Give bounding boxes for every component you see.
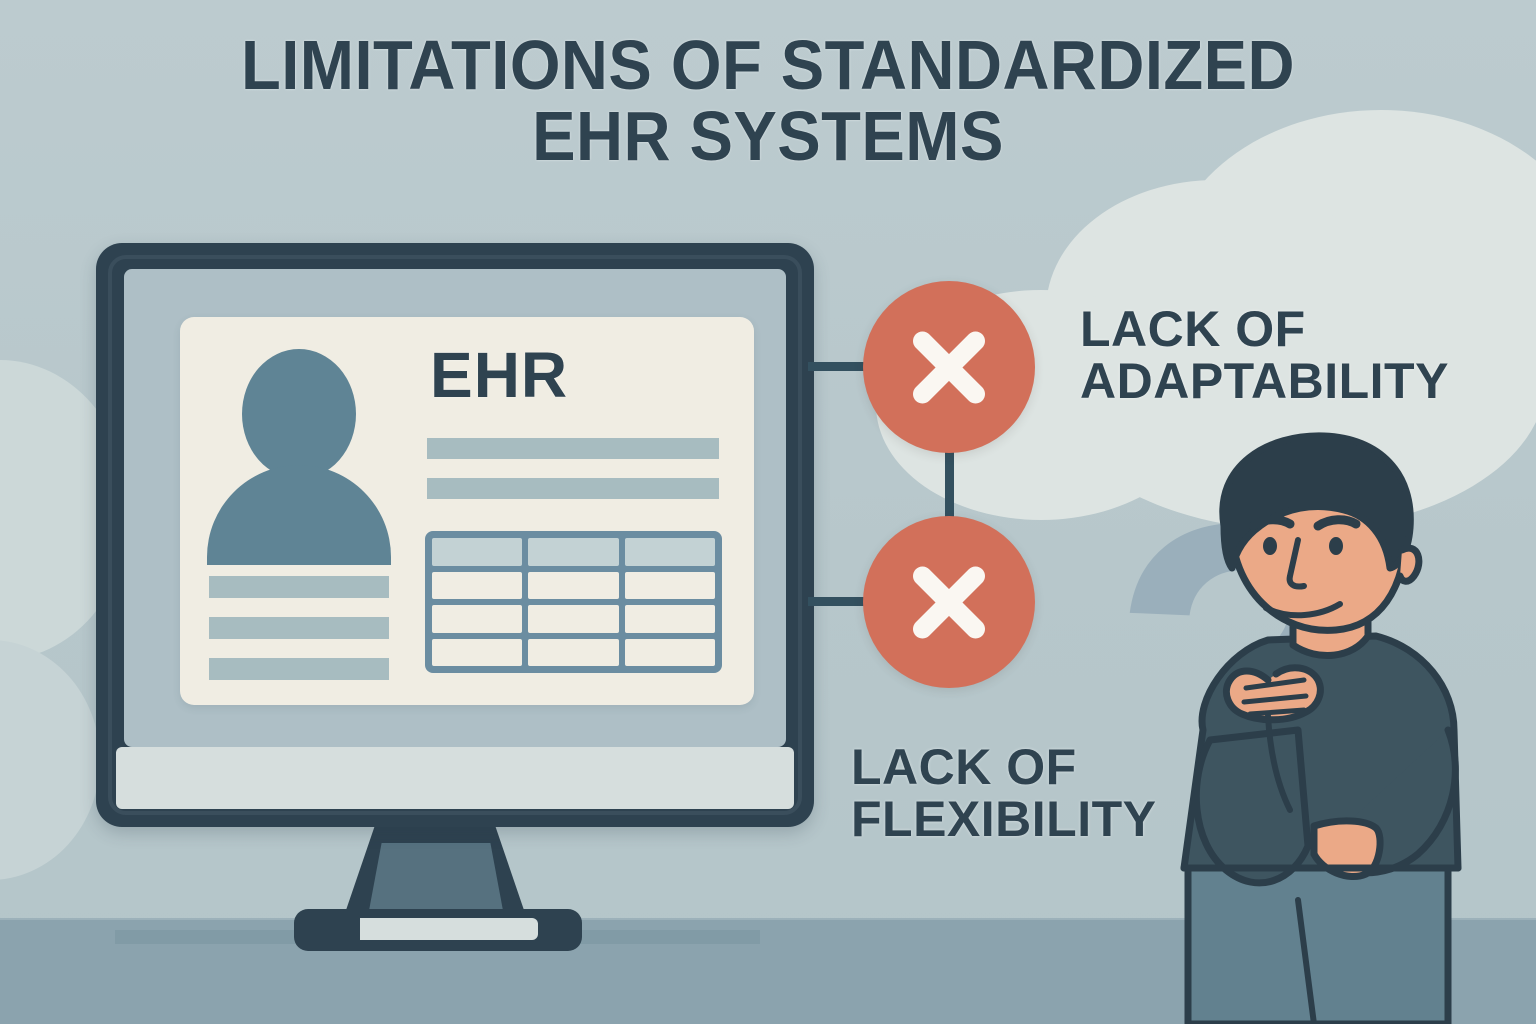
- table-cell: [432, 572, 522, 600]
- placeholder-bar: [209, 576, 389, 598]
- limitation-label-flexibility: LACK OF FLEXIBILITY: [851, 741, 1157, 845]
- monitor-stand-neck-highlight: [368, 843, 504, 916]
- page-title-line-1: LIMITATIONS OF STANDARDIZED: [54, 30, 1482, 101]
- record-table: [425, 531, 722, 673]
- table-cell: [625, 639, 715, 667]
- avatar-icon: [242, 349, 356, 479]
- table-cell: [625, 605, 715, 633]
- table-header-cell: [625, 538, 715, 566]
- limitation-label-adaptability: LACK OF ADAPTABILITY: [1080, 303, 1449, 407]
- page-title-line-2: EHR SYSTEMS: [54, 101, 1482, 172]
- page-title: LIMITATIONS OF STANDARDIZED EHR SYSTEMS: [54, 30, 1482, 173]
- table-header-cell: [528, 538, 618, 566]
- card-heading: EHR: [430, 343, 568, 407]
- placeholder-bar-wide: [427, 438, 719, 459]
- table-cell: [528, 605, 618, 633]
- x-mark-icon-adaptability: [863, 281, 1035, 453]
- monitor-stand-base-lip: [360, 918, 538, 940]
- placeholder-bar: [209, 658, 389, 680]
- placeholder-bar: [209, 617, 389, 639]
- table-header-cell: [432, 538, 522, 566]
- table-cell: [432, 605, 522, 633]
- table-cell: [625, 572, 715, 600]
- placeholder-bar-wide: [427, 478, 719, 499]
- monitor-chin: [116, 747, 794, 809]
- table-cell: [528, 572, 618, 600]
- thinking-person-illustration: [1118, 430, 1536, 1024]
- table-cell: [432, 639, 522, 667]
- x-mark-icon-flexibility: [863, 516, 1035, 688]
- infographic-canvas: ? LIMITATIONS OF STANDARDIZED EHR SYSTEM…: [0, 0, 1536, 1024]
- table-cell: [528, 639, 618, 667]
